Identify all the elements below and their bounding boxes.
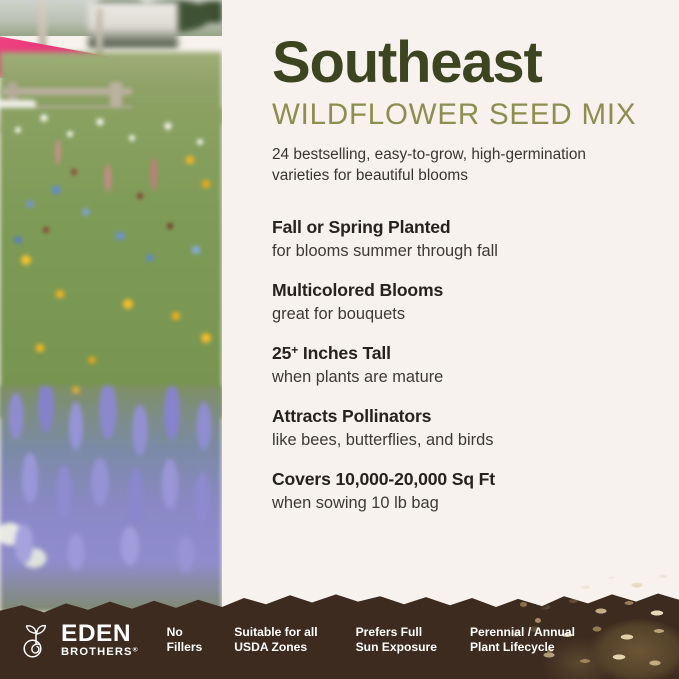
badge-no-fillers: No Fillers [167, 625, 203, 656]
product-lede: 24 bestselling, easy-to-grow, high-germi… [272, 145, 632, 187]
feature-heading: Fall or Spring Planted [272, 217, 649, 239]
feature-heading: Attracts Pollinators [272, 406, 649, 428]
feature-heading: 25+ Inches Tall [272, 343, 649, 365]
feature-item: Attracts Pollinators like bees, butterfl… [272, 406, 649, 450]
sprout-icon [18, 620, 54, 660]
feature-item: Multicolored Blooms great for bouquets [272, 280, 649, 324]
content-panel: Southeast WILDFLOWER SEED MIX 24 bestsel… [222, 0, 679, 612]
photo-wildflowers [0, 108, 222, 418]
product-poster: Southeast WILDFLOWER SEED MIX 24 bestsel… [0, 0, 679, 679]
feature-subtext: for blooms summer through fall [272, 241, 649, 262]
feature-subtext: great for bouquets [272, 304, 649, 325]
footer-bar: EDEN BROTHERS® No Fillers Suitable for a… [0, 601, 679, 679]
feature-item: 25+ Inches Tall when plants are mature [272, 343, 649, 388]
feature-list: Fall or Spring Planted for blooms summer… [272, 217, 649, 513]
page-title: Southeast [272, 34, 649, 92]
feature-subtext: when sowing 10 lb bag [272, 493, 649, 514]
feature-item: Covers 10,000-20,000 Sq Ft when sowing 1… [272, 469, 649, 513]
feature-subtext: like bees, butterflies, and birds [272, 430, 649, 451]
badge-usda-zones: Suitable for all USDA Zones [234, 625, 317, 656]
product-subtitle: WILDFLOWER SEED MIX [272, 100, 649, 131]
feature-heading: Covers 10,000-20,000 Sq Ft [272, 469, 649, 491]
eden-brothers-logo[interactable]: EDEN BROTHERS® [18, 620, 139, 660]
badge-row: No Fillers Suitable for all USDA Zones P… [149, 625, 575, 656]
logo-eden-text: EDEN [61, 622, 139, 646]
badge-plant-lifecycle: Perennial / Annual Plant Lifecycle [470, 625, 575, 656]
photo-larkspur [0, 386, 222, 612]
logo-wordmark: EDEN BROTHERS® [61, 622, 139, 659]
wildflower-meadow-photo [0, 0, 222, 612]
badge-sun-exposure: Prefers Full Sun Exposure [356, 625, 437, 656]
logo-brothers-text: BROTHERS® [61, 646, 139, 658]
feature-item: Fall or Spring Planted for blooms summer… [272, 217, 649, 261]
feature-heading: Multicolored Blooms [272, 280, 649, 302]
feature-subtext: when plants are mature [272, 367, 649, 388]
